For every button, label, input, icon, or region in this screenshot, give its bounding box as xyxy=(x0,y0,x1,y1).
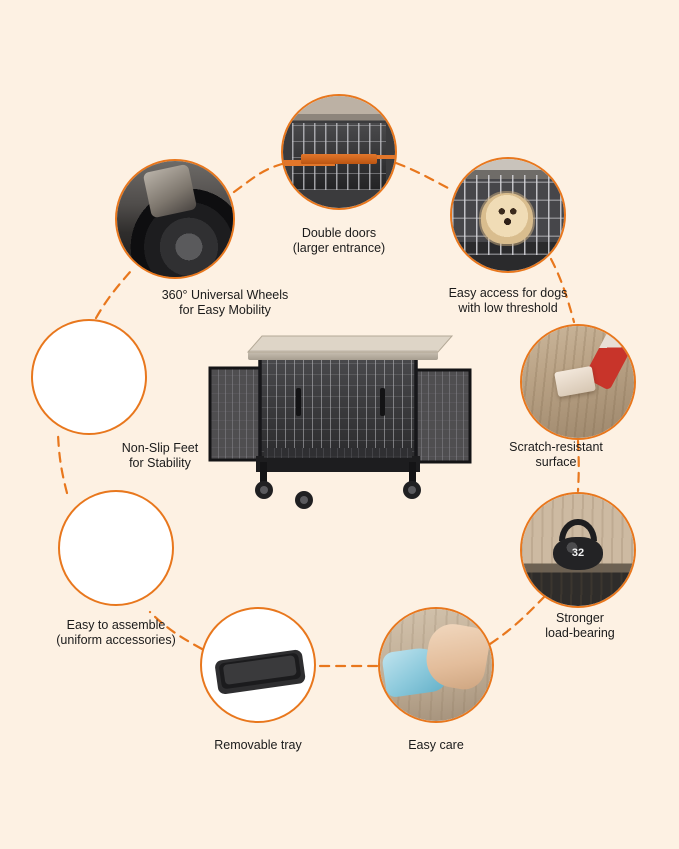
connector-wheels-to-doors xyxy=(234,164,282,192)
feature-node-easy-care[interactable] xyxy=(378,607,494,723)
dog-in-crate-icon xyxy=(452,159,564,271)
knife-scratching-wood-icon xyxy=(522,326,634,438)
feature-node-easy-assemble[interactable] xyxy=(58,490,174,606)
caption-wheels: 360° Universal Wheels for Easy Mobility xyxy=(95,288,355,318)
caption-scratch-resistant: Scratch-resistant surface xyxy=(468,440,644,470)
feature-node-low-threshold[interactable] xyxy=(450,157,566,273)
crate-double-doors-icon xyxy=(283,96,395,208)
feature-diagram: 360° Universal Wheels for Easy Mobility … xyxy=(0,0,679,849)
feature-node-removable-tray[interactable] xyxy=(200,607,316,723)
caption-easy-care: Easy care xyxy=(356,738,516,753)
feature-node-scratch-resistant[interactable] xyxy=(520,324,636,440)
caption-removable-tray: Removable tray xyxy=(178,738,338,753)
caption-load-bearing: Stronger load-bearing xyxy=(500,611,660,641)
caption-easy-assemble: Easy to assemble (uniform accessories) xyxy=(26,618,206,648)
caption-double-doors: Double doors (larger entrance) xyxy=(249,226,429,256)
connector-assemble-to-feet xyxy=(58,434,67,493)
caster-wheel-icon xyxy=(117,161,233,277)
black-tray-icon xyxy=(202,609,314,721)
product-image-dog-crate xyxy=(204,330,476,520)
kettlebell-weight-label: 32 xyxy=(522,547,634,559)
caption-low-threshold: Easy access for dogs with low threshold xyxy=(408,286,608,316)
feature-node-wheels[interactable] xyxy=(115,159,235,279)
connector-doors-to-threshold xyxy=(396,163,452,190)
feature-node-load-bearing[interactable]: 32 xyxy=(520,492,636,608)
feature-node-double-doors[interactable] xyxy=(281,94,397,210)
feature-node-non-slip-feet[interactable] xyxy=(31,319,147,435)
cleaning-cloth-icon xyxy=(380,609,492,721)
